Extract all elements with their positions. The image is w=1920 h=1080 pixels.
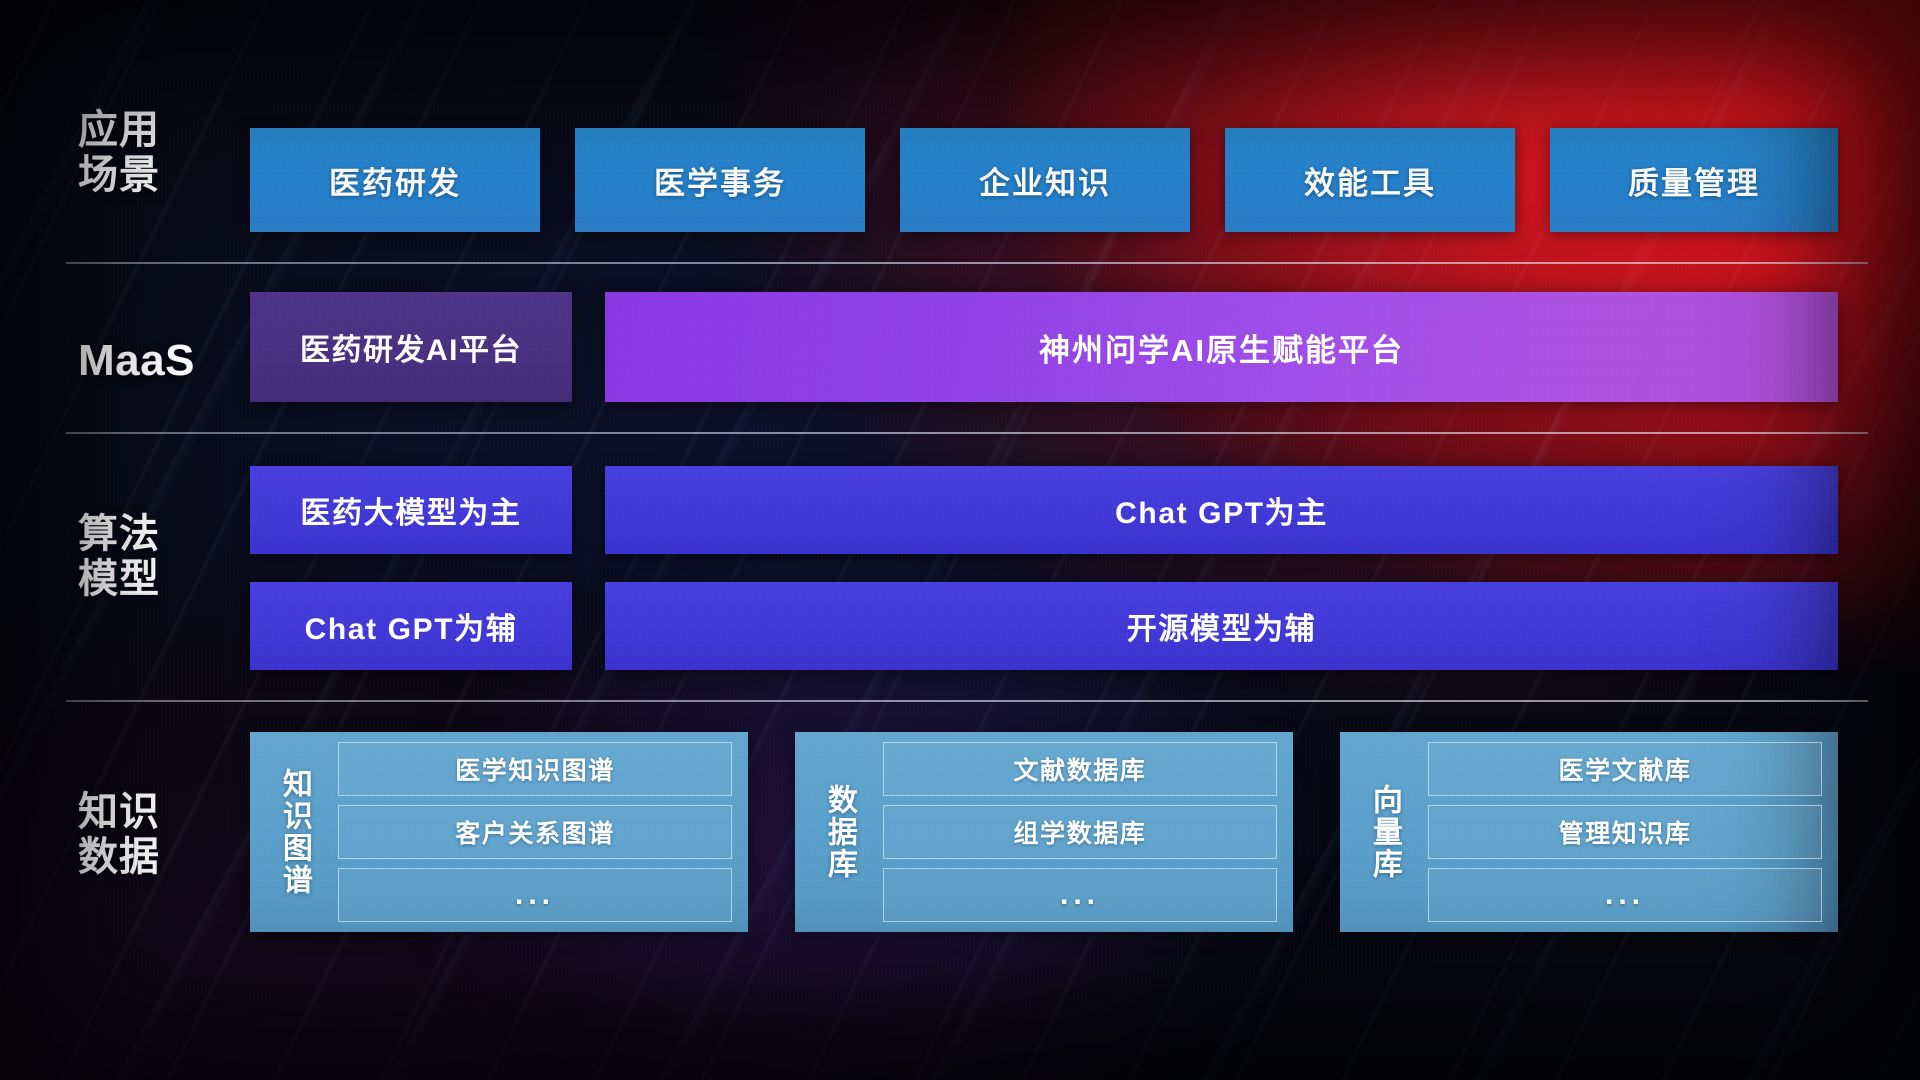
knowledge-group-items: 医学文献库 管理知识库 ... xyxy=(1414,742,1822,922)
row-label-algorithm-models: 算法 模型 xyxy=(78,512,238,602)
knowledge-group-items: 医学知识图谱 客户关系图谱 ... xyxy=(324,742,732,922)
knowledge-group-title: 数据库 xyxy=(809,742,869,922)
knowledge-group-title: 知识图谱 xyxy=(264,742,324,922)
row-label-line: MaaS xyxy=(78,336,238,385)
row-divider-3 xyxy=(66,700,1868,702)
app-scenario-card-enterprise-knowledge[interactable]: 企业知识 xyxy=(900,128,1190,232)
row-label-application-scenarios: 应用 场景 xyxy=(78,108,238,198)
row-label-line: 知识 xyxy=(78,790,238,835)
knowledge-item-customer-relation-graph[interactable]: 客户关系图谱 xyxy=(338,805,732,859)
knowledge-item-omics-database[interactable]: 组学数据库 xyxy=(883,805,1277,859)
row-label-line: 模型 xyxy=(78,557,238,602)
knowledge-group-items: 文献数据库 组学数据库 ... xyxy=(869,742,1277,922)
architecture-diagram: 应用 场景 医药研发 医学事务 企业知识 效能工具 质量管理 MaaS 医药研发… xyxy=(0,0,1920,1080)
app-scenario-card-quality-management[interactable]: 质量管理 xyxy=(1550,128,1838,232)
algo-bar-opensource-model-secondary[interactable]: 开源模型为辅 xyxy=(605,582,1838,670)
knowledge-group-database[interactable]: 数据库 文献数据库 组学数据库 ... xyxy=(795,732,1293,932)
knowledge-item-more[interactable]: ... xyxy=(883,868,1277,922)
knowledge-group-title: 向量库 xyxy=(1354,742,1414,922)
row-label-line: 场景 xyxy=(78,153,238,198)
row-label-maas: MaaS xyxy=(78,336,238,385)
knowledge-item-medical-knowledge-graph[interactable]: 医学知识图谱 xyxy=(338,742,732,796)
algo-bar-medicine-large-model-primary[interactable]: 医药大模型为主 xyxy=(250,466,572,554)
knowledge-item-literature-database[interactable]: 文献数据库 xyxy=(883,742,1277,796)
row-divider-2 xyxy=(66,432,1868,434)
row-label-line: 应用 xyxy=(78,108,238,153)
row-label-knowledge-data: 知识 数据 xyxy=(78,790,238,880)
knowledge-item-medical-literature-store[interactable]: 医学文献库 xyxy=(1428,742,1822,796)
knowledge-group-vector-store[interactable]: 向量库 医学文献库 管理知识库 ... xyxy=(1340,732,1838,932)
row-label-line: 算法 xyxy=(78,512,238,557)
knowledge-item-management-knowledge-store[interactable]: 管理知识库 xyxy=(1428,805,1822,859)
knowledge-item-more[interactable]: ... xyxy=(338,868,732,922)
row-label-line: 数据 xyxy=(78,835,238,880)
maas-card-medicine-rd-ai-platform[interactable]: 医药研发AI平台 xyxy=(250,292,572,402)
algo-bar-chatgpt-secondary[interactable]: Chat GPT为辅 xyxy=(250,582,572,670)
knowledge-group-knowledge-graph[interactable]: 知识图谱 医学知识图谱 客户关系图谱 ... xyxy=(250,732,748,932)
app-scenario-card-efficiency-tools[interactable]: 效能工具 xyxy=(1225,128,1515,232)
maas-card-shenzhou-wenxue-platform[interactable]: 神州问学AI原生赋能平台 xyxy=(605,292,1838,402)
knowledge-item-more[interactable]: ... xyxy=(1428,868,1822,922)
app-scenario-card-medicine-rd[interactable]: 医药研发 xyxy=(250,128,540,232)
algo-bar-chatgpt-primary[interactable]: Chat GPT为主 xyxy=(605,466,1838,554)
row-divider-1 xyxy=(66,262,1868,264)
app-scenario-card-medical-affairs[interactable]: 医学事务 xyxy=(575,128,865,232)
